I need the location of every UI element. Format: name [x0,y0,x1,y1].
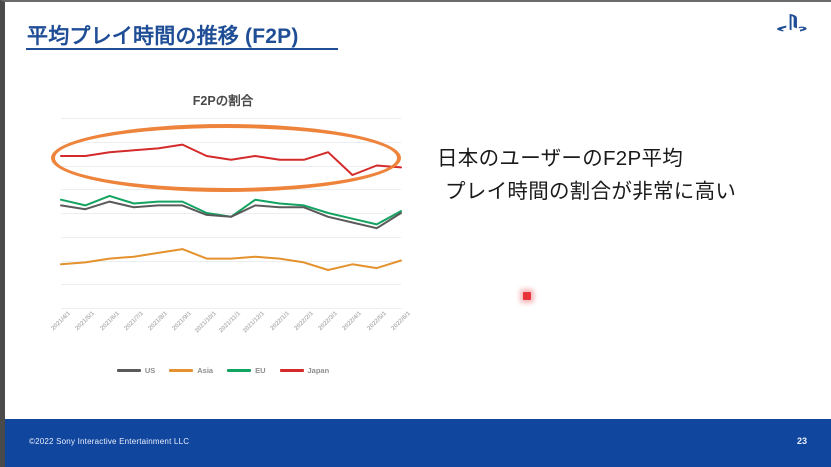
x-axis-tick-label: 2022/4/1 [341,310,363,332]
playstation-logo [777,12,807,38]
x-axis-tick-label: 2022/1/1 [269,310,291,332]
x-axis-tick-label: 2021/10/1 [193,310,217,334]
legend-swatch-eu [227,369,251,372]
x-axis-tick-label: 2021/6/1 [99,310,121,332]
title-underline [26,48,338,50]
x-axis-tick-label: 2021/9/1 [171,310,193,332]
x-axis-tick-label: 2022/6/1 [390,310,412,332]
legend-item-japan[interactable]: Japan [280,366,330,375]
legend-swatch-asia [169,369,193,372]
x-axis-tick-label: 2021/4/1 [50,310,72,332]
presentation-slide: 平均プレイ時間の推移 (F2P) F2Pの割合 2021/4/12021/5 [0,0,831,467]
x-axis-tick-label: 2021/5/1 [74,310,96,332]
series-line-asia [61,249,401,270]
x-axis-tick-label: 2021/7/1 [123,310,145,332]
legend-item-eu[interactable]: EU [227,366,265,375]
x-axis-tick-label: 2021/8/1 [147,310,169,332]
legend-label-japan: Japan [308,366,330,375]
x-axis-tick-label: 2021/12/1 [242,310,266,334]
pointer-dot [523,292,531,300]
legend-swatch-us [117,369,141,372]
chart-x-axis: 2021/4/12021/5/12021/6/12021/7/12021/8/1… [61,310,401,362]
chart-legend: USAsiaEUJapan [43,366,403,375]
page-title: 平均プレイ時間の推移 (F2P) [27,20,299,50]
callout-text: 日本のユーザーのF2P平均 プレイ時間の割合が非常に高い [437,142,797,208]
legend-label-asia: Asia [197,366,213,375]
chart-title: F2Pの割合 [43,90,403,109]
highlight-ellipse-annotation [51,124,401,192]
series-line-eu [61,196,401,225]
legend-item-asia[interactable]: Asia [169,366,213,375]
gridline [61,308,401,309]
slide-footer: ©2022 Sony Interactive Entertainment LLC… [5,419,831,467]
legend-label-us: US [145,366,155,375]
x-axis-tick-label: 2022/3/1 [317,310,339,332]
x-axis-tick-label: 2021/11/1 [218,310,242,334]
legend-item-us[interactable]: US [117,366,155,375]
callout-line-2: プレイ時間の割合が非常に高い [437,175,797,208]
x-axis-tick-label: 2022/2/1 [293,310,315,332]
x-axis-tick-label: 2022/5/1 [366,310,388,332]
footer-copyright: ©2022 Sony Interactive Entertainment LLC [29,437,189,446]
callout-line-1: 日本のユーザーのF2P平均 [437,142,797,175]
legend-swatch-japan [280,369,304,372]
legend-label-eu: EU [255,366,265,375]
series-line-us [61,202,401,229]
footer-page-number: 23 [797,436,807,446]
